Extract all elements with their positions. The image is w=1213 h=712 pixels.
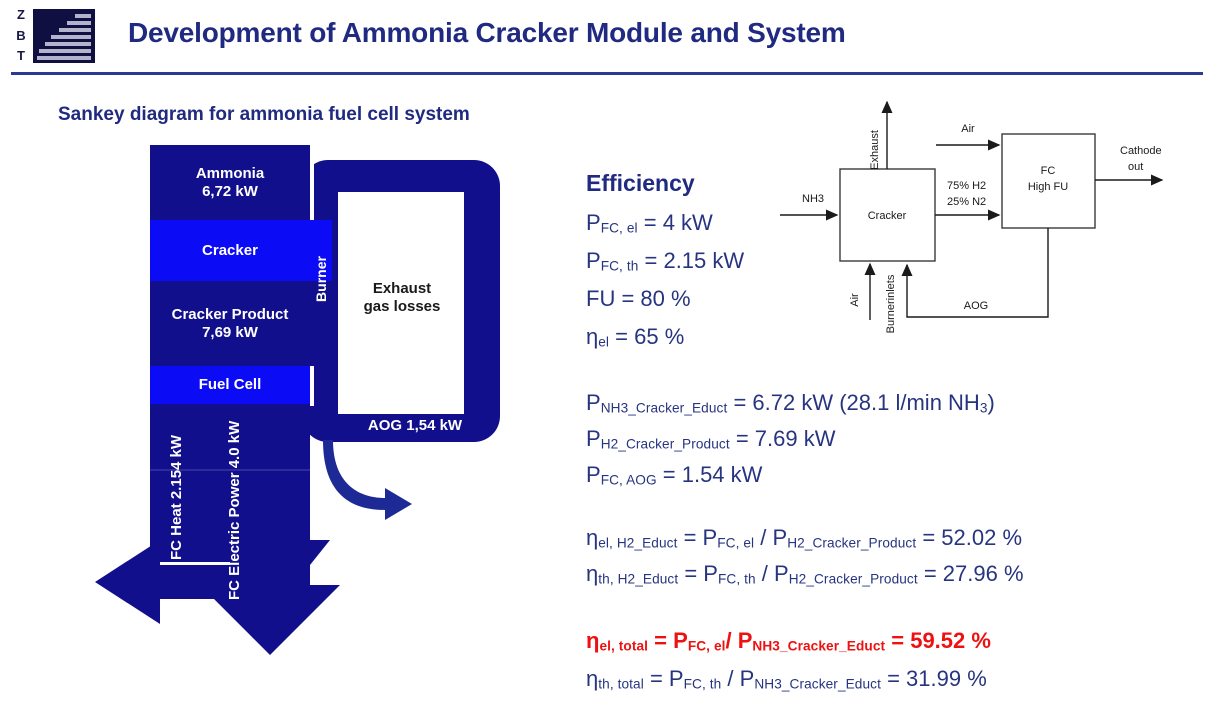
eq-p-fc-aog: PFC, AOG = 1.54 kW <box>586 464 762 487</box>
logo-letters: Z B T <box>11 8 31 62</box>
fc-block-label-line1: FC <box>1041 165 1056 177</box>
eq-eta-th-h2-educt: ηth, H2_Educt = PFC, th / PH2_Cracker_Pr… <box>586 563 1024 586</box>
fc-heat-label: FC Heat 2.154 kW <box>168 435 185 560</box>
eq-fu: FU = 80 % <box>586 288 691 310</box>
sankey-title: Sankey diagram for ammonia fuel cell sys… <box>58 104 470 126</box>
exhaust-curved-arrow <box>323 440 412 520</box>
sankey-flow-arrows <box>40 140 520 700</box>
fc-block-label-line2: High FU <box>1028 181 1068 193</box>
air-bottom-label: Air <box>849 293 861 307</box>
process-flow-diagram: Cracker FC High FU NH3 Exhaust 75% H2 25… <box>780 92 1210 372</box>
sankey-diagram: Ammonia 6,72 kW Cracker Cracker Product … <box>40 140 520 700</box>
exhaust-label: Exhaust <box>869 130 881 170</box>
aog-label: AOG <box>964 300 988 312</box>
logo-letter-b: B <box>16 29 25 42</box>
logo-letter-z: Z <box>17 8 25 21</box>
logo-bars-icon <box>33 9 95 63</box>
air-top-label: Air <box>961 123 975 135</box>
efficiency-heading: Efficiency <box>586 170 695 197</box>
eq-p-fc-el: PFC, el = 4 kW <box>586 212 713 235</box>
eq-eta-th-total: ηth, total = PFC, th / PNH3_Cracker_Educ… <box>586 668 987 691</box>
cathode-out-label-line1: Cathode <box>1120 145 1162 157</box>
cracker-block-label: Cracker <box>868 210 907 222</box>
eq-eta-el: ηel = 65 % <box>586 326 684 349</box>
eq-eta-el-total: ηel, total = PFC, el/ PNH3_Cracker_Educt… <box>586 630 991 653</box>
eq-p-h2-cracker-product: PH2_Cracker_Product = 7.69 kW <box>586 428 836 451</box>
page-title: Development of Ammonia Cracker Module an… <box>128 17 846 49</box>
burner-inlets-label: Burnerinlets <box>885 274 897 333</box>
eq-p-fc-th: PFC, th = 2.15 kW <box>586 250 744 273</box>
logo-letter-t: T <box>17 49 25 62</box>
nh3-label: NH3 <box>802 193 824 205</box>
eq-eta-el-h2-educt: ηel, H2_Educt = PFC, el / PH2_Cracker_Pr… <box>586 527 1022 550</box>
header-divider <box>11 72 1203 75</box>
composition-label-line1: 75% H2 <box>947 180 986 192</box>
eq-p-nh3-cracker-educt: PNH3_Cracker_Educt = 6.72 kW (28.1 l/min… <box>586 392 995 415</box>
fc-electric-power-label: FC Electric Power 4.0 kW <box>226 421 243 600</box>
page-header: Z B T Development of Ammonia Cracker Mod… <box>0 0 1213 78</box>
cathode-out-label-line2: out <box>1128 161 1143 173</box>
composition-label-line2: 25% N2 <box>947 196 986 208</box>
zbt-logo: Z B T <box>11 6 97 64</box>
